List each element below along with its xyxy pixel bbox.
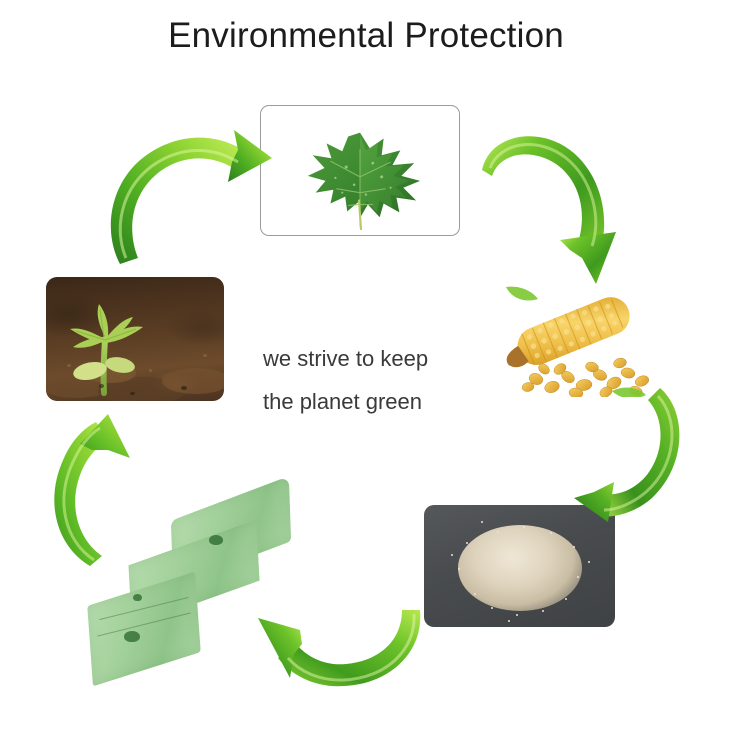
page-title: Environmental Protection bbox=[0, 16, 732, 56]
node-soil-panel: Seedling in soil bbox=[46, 277, 224, 401]
bag-bottom bbox=[87, 572, 200, 687]
node-granules-panel: Biopolymer granules bbox=[424, 505, 615, 627]
bag-logo-1 bbox=[209, 535, 223, 545]
caption-line-2: the planet green bbox=[263, 380, 475, 423]
infographic-canvas: Environmental Protection we strive to ke… bbox=[0, 0, 732, 732]
arrow-bags-to-soil: bags-to-soil bbox=[34, 414, 138, 570]
center-caption: we strive to keep the planet green bbox=[263, 337, 475, 423]
leaf-icon bbox=[261, 106, 459, 235]
bag-logo-3 bbox=[124, 631, 140, 642]
granule-pile-icon bbox=[458, 525, 582, 611]
node-corn: Corn and kernels bbox=[494, 283, 658, 397]
bag-logo-2 bbox=[133, 594, 142, 601]
node-leaf-panel: Green leaf bbox=[260, 105, 460, 236]
node-granules-label: Biopolymer granules bbox=[424, 505, 425, 506]
corn-icon bbox=[494, 283, 658, 397]
arrow-granules-to-bags: granules-to-bags bbox=[244, 596, 424, 700]
seedling-icon bbox=[46, 277, 224, 401]
arrow-corn-to-granules: corn-to-granules bbox=[574, 382, 694, 522]
arrow-soil-to-leaf: soil-to-leaf bbox=[96, 118, 272, 266]
arrow-leaf-to-corn: leaf-to-corn bbox=[476, 124, 644, 284]
caption-line-1: we strive to keep bbox=[263, 337, 475, 380]
